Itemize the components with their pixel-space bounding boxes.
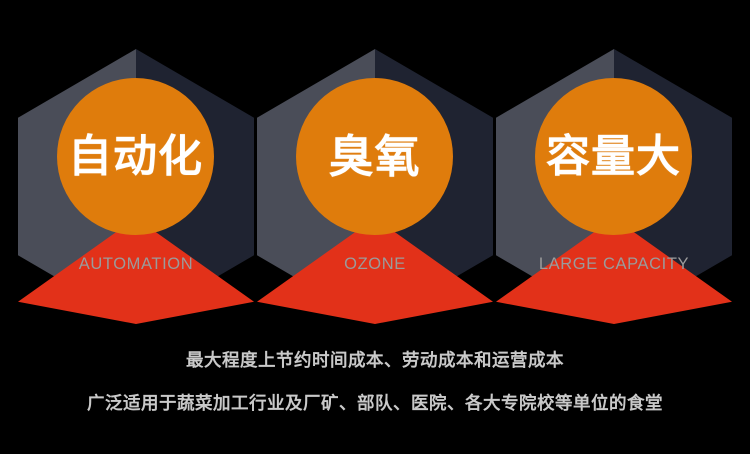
feature-circle: 臭氧: [296, 78, 453, 235]
feature-title-cn: 容量大: [546, 135, 681, 179]
feature-hexagon-ozone[interactable]: 臭氧 OZONE: [257, 49, 493, 324]
feature-hexagon-automation[interactable]: 自动化 AUTOMATION: [18, 49, 254, 324]
caption-line-1: 最大程度上节约时间成本、劳动成本和运营成本: [0, 352, 750, 370]
feature-hexagon-large-capacity[interactable]: 容量大 LARGE CAPACITY: [496, 49, 732, 324]
feature-title-cn: 臭氧: [328, 134, 420, 179]
feature-circle: 容量大: [535, 78, 692, 235]
feature-title-cn: 自动化: [68, 135, 203, 179]
promo-banner: 自动化 AUTOMATION 臭氧 OZONE 容量大 LARGE CAPACI…: [0, 0, 750, 454]
feature-title-en: AUTOMATION: [18, 255, 254, 274]
caption-line-2: 广泛适用于蔬菜加工行业及厂矿、部队、医院、各大专院校等单位的食堂: [0, 395, 750, 413]
feature-title-en: OZONE: [257, 255, 493, 274]
caption-block: 最大程度上节约时间成本、劳动成本和运营成本 广泛适用于蔬菜加工行业及厂矿、部队、…: [0, 352, 750, 412]
feature-circle: 自动化: [57, 78, 214, 235]
feature-hexagon-row: 自动化 AUTOMATION 臭氧 OZONE 容量大 LARGE CAPACI…: [0, 0, 750, 340]
feature-title-en: LARGE CAPACITY: [496, 255, 732, 274]
